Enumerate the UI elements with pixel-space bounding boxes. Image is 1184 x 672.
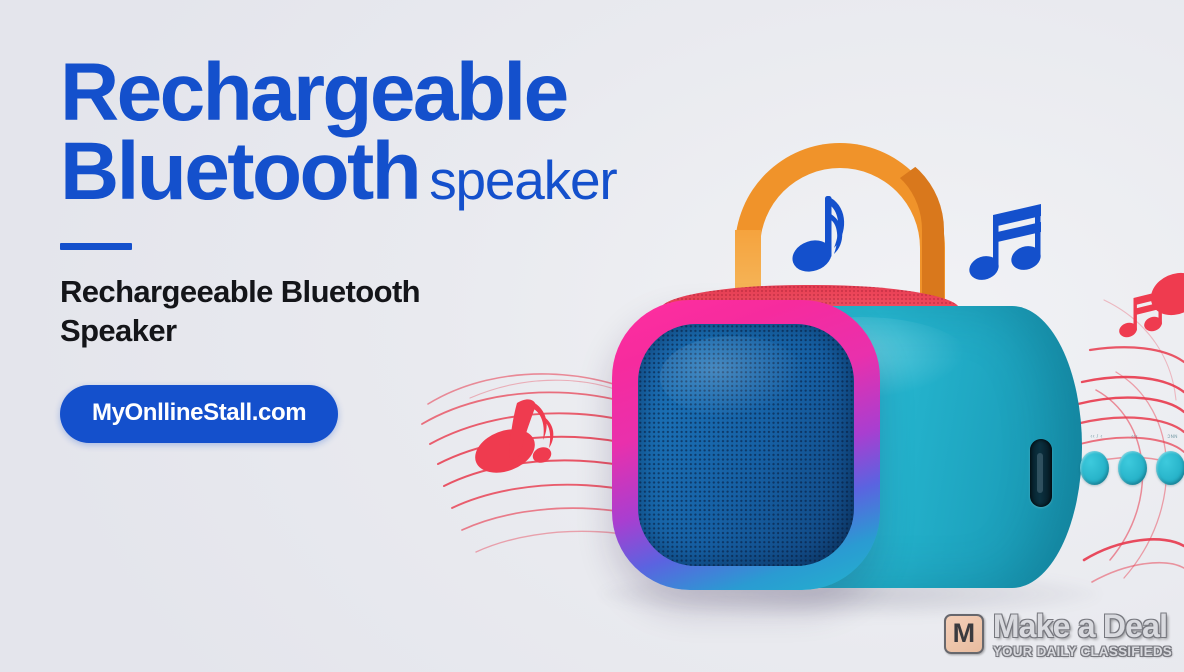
speaker-handle	[735, 143, 945, 333]
watermark-title: Make a Deal	[993, 610, 1172, 642]
banner-text-block: Rechargeable Bluetooth speaker Rechargee…	[60, 54, 760, 443]
control-button-row	[1080, 451, 1184, 485]
blue-beamed-note-icon	[966, 204, 1044, 284]
control-label-row: ‹‹ / ‹ ‹‹‹ ɔɴɴ ‹	[1082, 434, 1184, 440]
subheading: Rechargeeable Bluetooth Speaker	[60, 272, 530, 350]
control-button-2	[1156, 451, 1184, 485]
speaker-cylinder: ‹‹ / ‹ ‹‹‹ ɔɴɴ ‹	[732, 306, 1082, 588]
usb-c-port-icon	[1030, 439, 1052, 507]
red-beamed-note-icon	[1117, 291, 1164, 340]
watermark-text: Make a Deal YOUR DAILY CLASSIFIEDS	[993, 610, 1172, 659]
red-accent-blob	[1144, 265, 1184, 323]
headline-speaker: speaker	[429, 154, 616, 207]
accent-divider-rule	[60, 243, 132, 250]
control-label-2: ɔɴɴ	[1158, 434, 1184, 440]
watermark: M Make a Deal YOUR DAILY CLASSIFIEDS	[944, 610, 1172, 659]
make-a-deal-logo-icon: M	[944, 614, 984, 654]
control-label-0: ‹‹ / ‹	[1082, 434, 1111, 440]
website-cta-button[interactable]: MyOnllineStall.com	[60, 385, 338, 443]
blue-eighth-note-icon	[788, 196, 844, 277]
headline: Rechargeable Bluetooth speaker	[60, 54, 760, 211]
watermark-tagline: YOUR DAILY CLASSIFIEDS	[993, 645, 1172, 659]
control-button-0	[1080, 451, 1109, 485]
speaker-handle-shadow	[860, 146, 944, 332]
control-label-1: ‹‹‹	[1120, 434, 1149, 440]
headline-line-2: Bluetooth speaker	[60, 133, 760, 212]
control-button-1	[1118, 451, 1147, 485]
headline-line-1: Rechargeable	[60, 54, 760, 133]
headline-bluetooth: Bluetooth	[60, 133, 419, 212]
promotional-banner: ‹‹ / ‹ ‹‹‹ ɔɴɴ ‹	[0, 0, 1184, 672]
